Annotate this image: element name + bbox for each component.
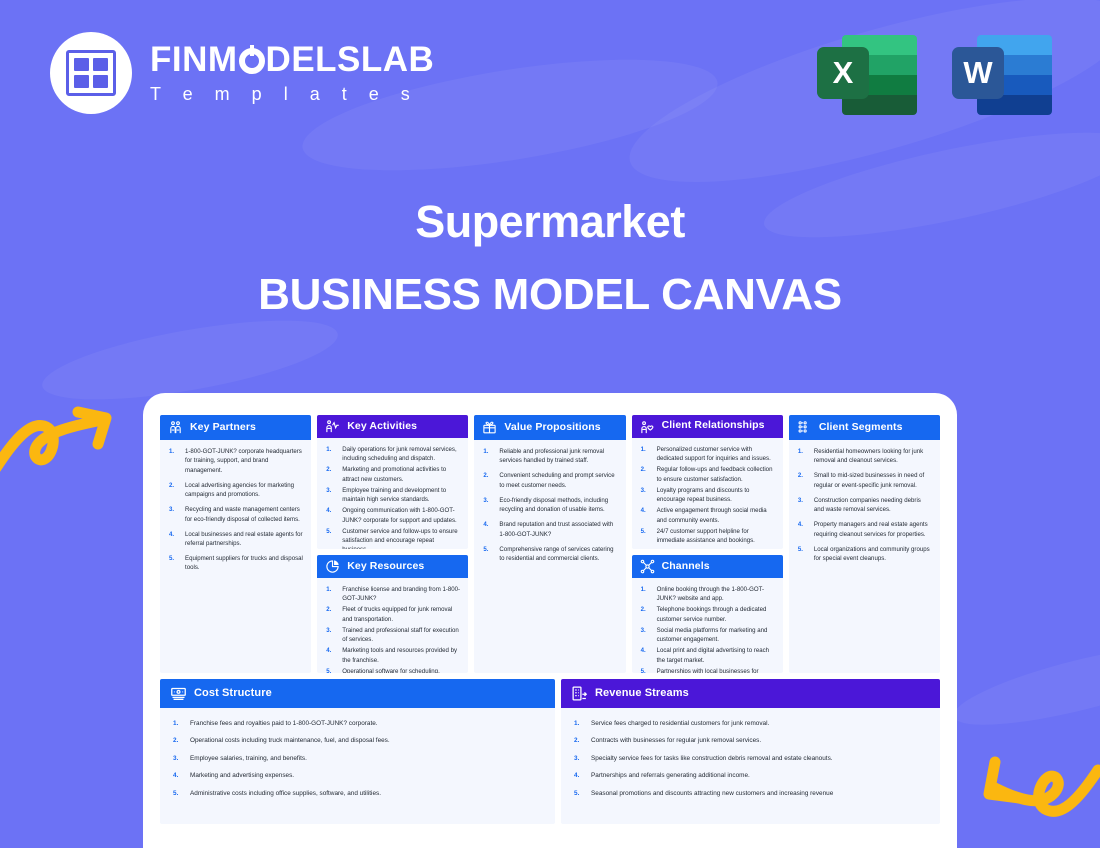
list-item: Regular follow-ups and feedback collecti…: [638, 465, 775, 484]
word-icon-letter: W: [952, 47, 1004, 99]
list-item: Service fees charged to residential cust…: [569, 719, 930, 729]
canvas-column-value: Value Propositions Reliable and professi…: [474, 415, 625, 673]
brand-name: FINMDELSLAB: [150, 42, 434, 77]
list-item: Administrative costs including office su…: [168, 789, 545, 799]
brand-name-part2: DELSLAB: [266, 40, 435, 79]
page-subtitle: BUSINESS MODEL CANVAS: [0, 270, 1100, 320]
list-item: Small to mid-sized businesses in need of…: [795, 471, 932, 490]
pie-chart-icon: [325, 559, 340, 574]
canvas-column-activities: Key Activities Daily operations for junk…: [317, 415, 468, 673]
block-title: Key Activities: [347, 421, 417, 433]
two-people-icon: [168, 420, 183, 435]
list-item: Operational software for scheduling, rou…: [323, 667, 460, 674]
brand-subtitle: T e m p l a t e s: [150, 84, 434, 105]
block-item-list: Residential homeowners looking for junk …: [795, 447, 932, 563]
list-item: Online booking through the 1-800-GOT-JUN…: [638, 585, 775, 604]
block-title: Revenue Streams: [595, 687, 689, 699]
list-item: Local organizations and community groups…: [795, 545, 932, 564]
block-item-list: Reliable and professional junk removal s…: [480, 447, 617, 563]
block-title: Client Segments: [819, 422, 903, 434]
list-item: Social media platforms for marketing and…: [638, 626, 775, 645]
canvas-block-revenue-streams[interactable]: Revenue Streams Service fees charged to …: [561, 679, 940, 824]
list-item: Construction companies needing debris an…: [795, 496, 932, 515]
list-item: Seasonal promotions and discounts attrac…: [569, 789, 930, 799]
canvas-column-segments: Client Segments Residential homeowners l…: [789, 415, 940, 673]
gift-icon: [482, 420, 497, 435]
block-title: Key Partners: [190, 422, 256, 434]
canvas-block-key-activities[interactable]: Key Activities Daily operations for junk…: [317, 415, 468, 549]
squiggle-arrow-up-right-icon: [0, 406, 124, 496]
list-item: Property managers and real estate agents…: [795, 520, 932, 539]
business-model-canvas: Key Partners 1-800-GOT-JUNK? corporate h…: [143, 393, 957, 848]
list-item: Marketing and promotional activities to …: [323, 465, 460, 484]
brand-name-part1: FINM: [150, 40, 238, 79]
grid-logo-icon: [50, 32, 132, 114]
canvas-bottom-row: Cost Structure Franchise fees and royalt…: [160, 679, 940, 824]
list-item: Customer service and follow-ups to ensur…: [323, 527, 460, 550]
canvas-block-channels[interactable]: Channels Online booking through the 1-80…: [632, 555, 783, 673]
list-item: Fleet of trucks equipped for junk remova…: [323, 605, 460, 624]
page-title-block: Supermarket BUSINESS MODEL CANVAS: [0, 196, 1100, 320]
list-item: Reliable and professional junk removal s…: [480, 447, 617, 466]
list-item: Daily operations for junk removal servic…: [323, 445, 460, 464]
block-item-list: Franchise fees and royalties paid to 1-8…: [168, 719, 545, 799]
block-title: Value Propositions: [504, 422, 600, 434]
brand-logo: FINMDELSLAB T e m p l a t e s: [50, 32, 434, 114]
list-item: Active engagement through social media a…: [638, 506, 775, 525]
list-item: Specialty service fees for tasks like co…: [569, 754, 930, 764]
canvas-top-row: Key Partners 1-800-GOT-JUNK? corporate h…: [160, 415, 940, 673]
canvas-block-key-partners[interactable]: Key Partners 1-800-GOT-JUNK? corporate h…: [160, 415, 311, 673]
list-item: Partnerships and referrals generating ad…: [569, 771, 930, 781]
list-item: Partnerships with local businesses for c…: [638, 667, 775, 674]
people-group-icon: [797, 420, 812, 435]
canvas-block-client-relationships[interactable]: Client Relationships Personalized custom…: [632, 415, 783, 549]
block-item-list: Online booking through the 1-800-GOT-JUN…: [638, 585, 775, 673]
list-item: Ongoing communication with 1-800-GOT-JUN…: [323, 506, 460, 525]
person-activity-icon: [325, 419, 340, 434]
list-item: Operational costs including truck mainte…: [168, 736, 545, 746]
power-o-icon: [239, 48, 265, 74]
person-heart-icon: [640, 420, 655, 435]
block-item-list: Service fees charged to residential cust…: [569, 719, 930, 799]
list-item: Employee salaries, training, and benefit…: [168, 754, 545, 764]
canvas-block-key-resources[interactable]: Key Resources Franchise license and bran…: [317, 555, 468, 673]
canvas-column-partners: Key Partners 1-800-GOT-JUNK? corporate h…: [160, 415, 311, 673]
canvas-column-relationships: Client Relationships Personalized custom…: [632, 415, 783, 673]
list-item: Contracts with businesses for regular ju…: [569, 736, 930, 746]
list-item: Marketing and advertising expenses.: [168, 771, 545, 781]
block-title: Client Relationships: [662, 420, 765, 432]
list-item: 1-800-GOT-JUNK? corporate headquarters f…: [166, 447, 303, 475]
block-title: Key Resources: [347, 561, 424, 573]
app-icon-group: X W: [817, 27, 1052, 117]
list-item: Loyalty programs and discounts to encour…: [638, 486, 775, 505]
list-item: Equipment suppliers for trucks and dispo…: [166, 554, 303, 573]
list-item: Comprehensive range of services catering…: [480, 545, 617, 564]
block-title: Cost Structure: [194, 687, 272, 699]
list-item: Trained and professional staff for execu…: [323, 626, 460, 645]
list-item: Convenient scheduling and prompt service…: [480, 471, 617, 490]
list-item: Employee training and development to mai…: [323, 486, 460, 505]
list-item: Residential homeowners looking for junk …: [795, 447, 932, 466]
list-item: Marketing tools and resources provided b…: [323, 646, 460, 665]
money-bill-icon: [170, 685, 187, 702]
block-item-list: Daily operations for junk removal servic…: [323, 445, 460, 549]
list-item: Local businesses and real estate agents …: [166, 530, 303, 549]
list-item: Recycling and waste management centers f…: [166, 505, 303, 524]
canvas-block-cost-structure[interactable]: Cost Structure Franchise fees and royalt…: [160, 679, 555, 824]
list-item: Personalized customer service with dedic…: [638, 445, 775, 464]
list-item: Franchise license and branding from 1-80…: [323, 585, 460, 604]
canvas-block-client-segments[interactable]: Client Segments Residential homeowners l…: [789, 415, 940, 673]
list-item: Telephone bookings through a dedicated c…: [638, 605, 775, 624]
list-item: Franchise fees and royalties paid to 1-8…: [168, 719, 545, 729]
canvas-block-value-propositions[interactable]: Value Propositions Reliable and professi…: [474, 415, 625, 673]
header-bar: FINMDELSLAB T e m p l a t e s X W: [0, 0, 1100, 150]
excel-icon: X: [817, 27, 917, 117]
page-title: Supermarket: [0, 196, 1100, 248]
background-brush-stroke: [948, 629, 1100, 740]
block-item-list: Franchise license and branding from 1-80…: [323, 585, 460, 673]
list-item: Local print and digital advertising to r…: [638, 646, 775, 665]
building-arrow-icon: [571, 685, 588, 702]
list-item: 24/7 customer support helpline for immed…: [638, 527, 775, 546]
block-title: Channels: [662, 561, 710, 573]
block-item-list: Personalized customer service with dedic…: [638, 445, 775, 545]
list-item: Local advertising agencies for marketing…: [166, 481, 303, 500]
word-icon: W: [952, 27, 1052, 117]
excel-icon-letter: X: [817, 47, 869, 99]
list-item: Eco-friendly disposal methods, including…: [480, 496, 617, 515]
block-item-list: 1-800-GOT-JUNK? corporate headquarters f…: [166, 447, 303, 573]
squiggle-arrow-down-left-icon: [965, 744, 1100, 839]
list-item: Brand reputation and trust associated wi…: [480, 520, 617, 539]
network-nodes-icon: [640, 559, 655, 574]
